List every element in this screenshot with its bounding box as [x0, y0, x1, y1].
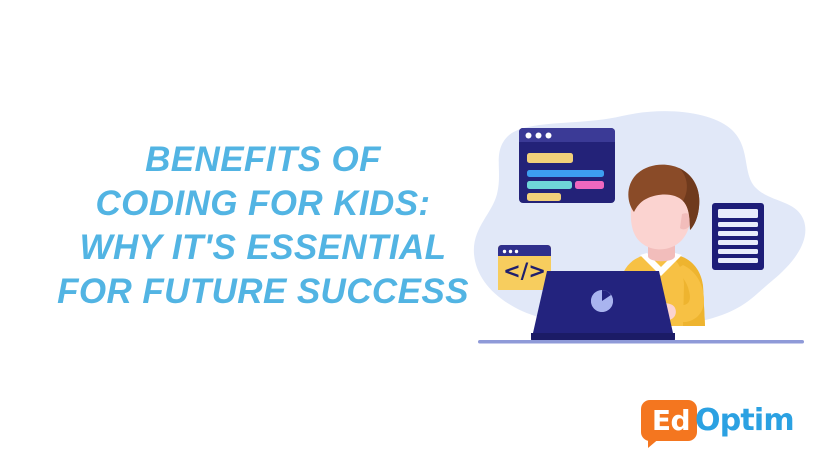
laptop-base	[531, 333, 675, 341]
laptop	[531, 271, 675, 341]
hero-illustration: </>	[470, 108, 815, 348]
code-line-4	[527, 193, 561, 201]
window-dot	[509, 250, 512, 253]
code-line-2	[527, 170, 604, 177]
title-line-1: Benefits of	[30, 138, 496, 182]
document-list-panel	[712, 203, 764, 270]
code-snippet-window: </>	[498, 245, 551, 290]
code-line-3b	[575, 181, 604, 189]
logo-word-text: Optim	[695, 402, 794, 440]
brand-logo[interactable]: Ed Optim	[641, 398, 806, 454]
code-line-1	[527, 153, 573, 163]
code-symbol-icon: </>	[503, 259, 546, 283]
slide-canvas: Benefits of Coding for Kids: Why it's Es…	[0, 0, 840, 473]
doc-line	[718, 249, 758, 254]
doc-line	[718, 231, 758, 236]
code-line-3a	[527, 181, 572, 189]
window-dot	[503, 250, 506, 253]
page-title: Benefits of Coding for Kids: Why it's Es…	[30, 138, 496, 314]
window-dot	[515, 250, 518, 253]
code-editor-window	[519, 128, 615, 203]
window-dot	[546, 133, 552, 139]
doc-line	[718, 209, 758, 218]
title-line-4: for Future Success	[30, 270, 496, 314]
doc-line	[718, 258, 758, 263]
window-dot	[536, 133, 542, 139]
doc-line	[718, 222, 758, 227]
title-line-3: Why it's Essential	[30, 226, 496, 270]
title-line-2: Coding for Kids:	[30, 182, 496, 226]
doc-line	[718, 240, 758, 245]
window-dot	[526, 133, 532, 139]
desk-surface	[478, 340, 804, 344]
logo-badge-text: Ed	[645, 402, 697, 440]
